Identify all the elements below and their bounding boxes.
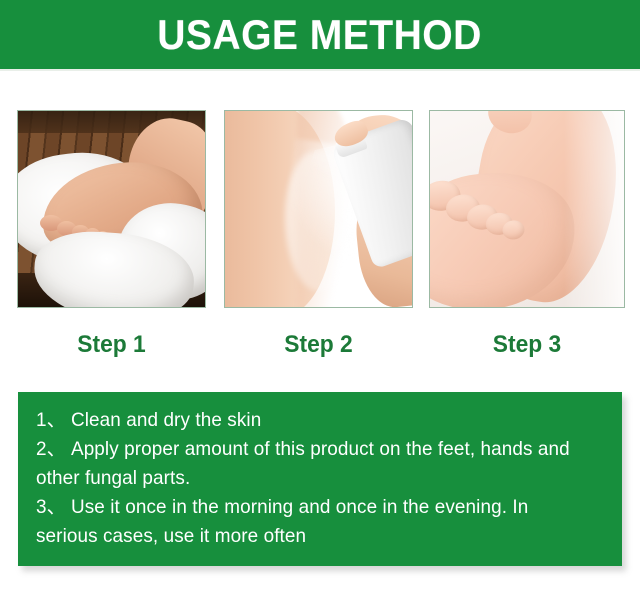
step-labels-row: Step 1 Step 2 Step 3 (0, 330, 640, 364)
toes-group (430, 172, 535, 245)
header-banner: USAGE METHOD (0, 0, 640, 69)
step-1-label: Step 1 (22, 330, 202, 360)
instruction-item-1: 1、 Clean and dry the skin (36, 406, 587, 435)
step-1-image-frame (17, 110, 206, 308)
step-2-label: Step 2 (229, 330, 409, 360)
step-3-label: Step 3 (434, 330, 620, 360)
page-title: USAGE METHOD (158, 14, 483, 56)
instruction-item-3: 3、 Use it once in the morning and once i… (36, 493, 587, 551)
spray-bottle-applied-to-leg-photo (225, 111, 412, 307)
foot-dried-with-towel-photo (18, 111, 205, 307)
step-images-row (0, 110, 640, 310)
instructions-box: 1、 Clean and dry the skin 2、 Apply prope… (18, 392, 622, 566)
background-highlight (564, 111, 624, 307)
step-3-image-frame (429, 110, 625, 308)
header-divider (0, 69, 640, 71)
step-2-image-frame (224, 110, 413, 308)
instruction-item-2: 2、 Apply proper amount of this product o… (36, 435, 587, 493)
two-bare-feet-photo (430, 111, 624, 307)
